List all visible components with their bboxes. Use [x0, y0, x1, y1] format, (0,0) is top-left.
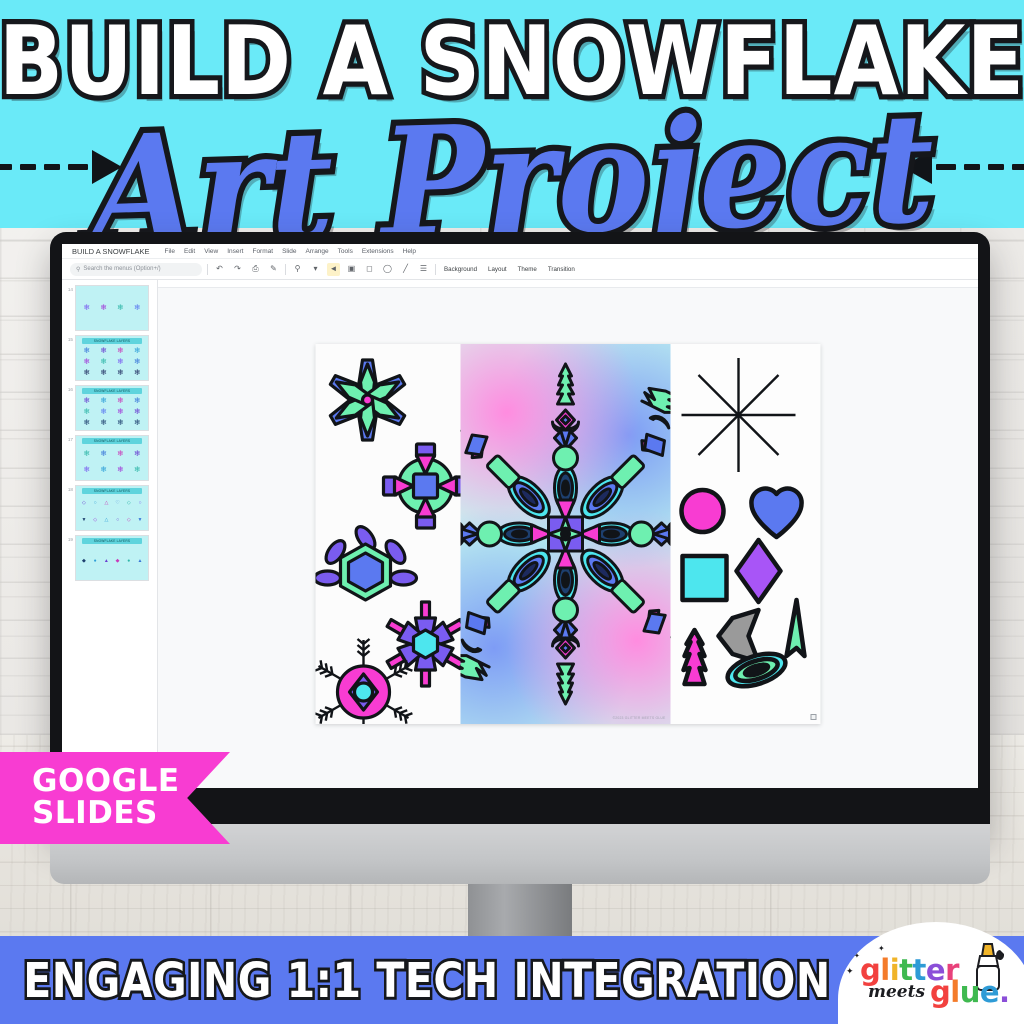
toolbar-divider: [285, 264, 286, 275]
circle-shape: [682, 490, 724, 532]
example-snowflake-2: [384, 444, 461, 528]
monitor-screen: BUILD A SNOWFLAKE File Edit View Insert …: [62, 244, 978, 788]
footer-tagline: ENGAGING 1:1 TECH INTEGRATION: [8, 952, 846, 1009]
menu-item-slide[interactable]: Slide: [282, 248, 296, 255]
toolbar-divider: [207, 264, 208, 275]
menu-bar: BUILD A SNOWFLAKE File Edit View Insert …: [62, 244, 978, 259]
main-snowflake-artwork[interactable]: ©2023 GLITTER MEETS GLUE: [461, 344, 671, 724]
example-snowflake-1: [328, 360, 406, 440]
redo-icon[interactable]: ↷: [231, 263, 244, 276]
slide-thumbnail[interactable]: ❄ ❄ ❄ ❄: [75, 285, 149, 331]
thumbnail-title-bar: SNOWFLAKE LAYERS: [82, 388, 142, 394]
thumbnail-title-bar: SNOWFLAKE LAYERS: [82, 338, 142, 344]
search-placeholder: Search the menus (Option+/): [83, 266, 160, 272]
app-body: 14 ❄ ❄ ❄ ❄: [62, 280, 978, 788]
chevron-shape: [719, 610, 759, 662]
slide-thumbnail[interactable]: SNOWFLAKE LAYERS ◇○ △♡ ◇○ ▼◇ △○ ◇▼: [75, 485, 149, 531]
thumbnail-title-bar: SNOWFLAKE LAYERS: [82, 488, 142, 494]
print-icon[interactable]: ⎙: [249, 263, 262, 276]
list-item[interactable]: 15 SNOWFLAKE LAYERS ❄❄ ❄❄ ❄❄ ❄❄: [62, 333, 157, 383]
slide-number: 19: [65, 535, 73, 542]
google-slides-app: BUILD A SNOWFLAKE File Edit View Insert …: [62, 244, 978, 788]
sparkle-icon: ✦: [878, 944, 885, 953]
slide-thumbnail[interactable]: SNOWFLAKE LAYERS ❄❄ ❄❄ ❄❄ ❄❄ ❄❄ ❄❄: [75, 335, 149, 381]
list-item[interactable]: 16 SNOWFLAKE LAYERS ❄❄ ❄❄ ❄❄ ❄❄: [62, 383, 157, 433]
thumbnail-title: SNOWFLAKE LAYERS: [82, 488, 142, 494]
eight-spoke-guide-icon: [682, 358, 796, 472]
list-item[interactable]: 19 SNOWFLAKE LAYERS ◆● ▲◆ ●▲: [62, 533, 157, 583]
slide-number: 16: [65, 385, 73, 392]
slide-filmstrip[interactable]: 14 ❄ ❄ ❄ ❄: [62, 280, 158, 788]
menu-item-tools[interactable]: Tools: [338, 248, 353, 255]
selection-handle[interactable]: [811, 714, 817, 720]
menu-item-help[interactable]: Help: [403, 248, 416, 255]
menu-item-edit[interactable]: Edit: [184, 248, 195, 255]
search-icon: ⚲: [76, 266, 80, 273]
toolbar: ⚲ Search the menus (Option+/) ↶ ↷ ⎙ ✎ ⚲ …: [62, 259, 978, 280]
menu-item-insert[interactable]: Insert: [227, 248, 243, 255]
thumbnail-title: SNOWFLAKE LAYERS: [82, 538, 142, 544]
thumbnail-title-bar: SNOWFLAKE LAYERS: [82, 438, 142, 444]
slide-thumbnail[interactable]: SNOWFLAKE LAYERS ❄❄ ❄❄ ❄❄ ❄❄ ❄❄ ❄❄: [75, 385, 149, 431]
theme-button[interactable]: Theme: [515, 266, 540, 273]
slide-number: 17: [65, 435, 73, 442]
menu-item-extensions[interactable]: Extensions: [362, 248, 394, 255]
zoom-icon[interactable]: ⚲: [291, 263, 304, 276]
image-icon[interactable]: ◻: [363, 263, 376, 276]
background-button[interactable]: Background: [441, 266, 480, 273]
logo-word-meets: meets: [868, 984, 925, 1001]
sparkle-icon: ✦: [846, 966, 854, 977]
list-item[interactable]: 18 SNOWFLAKE LAYERS ◇○ △♡ ◇○ ▼◇: [62, 483, 157, 533]
monitor-mockup: BUILD A SNOWFLAKE File Edit View Insert …: [50, 232, 990, 832]
watermark: ©2023 GLITTER MEETS GLUE: [613, 716, 666, 720]
example-snowflake-5: [316, 639, 413, 724]
thumbnail-title: SNOWFLAKE LAYERS: [82, 388, 142, 394]
logo-word-glue: glue.: [930, 978, 1010, 1007]
select-icon[interactable]: ◄: [327, 263, 340, 276]
ruler: [158, 280, 978, 288]
layout-button[interactable]: Layout: [485, 266, 510, 273]
paint-format-icon[interactable]: ✎: [267, 263, 280, 276]
transition-button[interactable]: Transition: [545, 266, 578, 273]
document-title[interactable]: BUILD A SNOWFLAKE: [72, 247, 150, 256]
list-item[interactable]: 14 ❄ ❄ ❄ ❄: [62, 283, 157, 333]
slide-number: 15: [65, 335, 73, 342]
slide-thumbnail[interactable]: SNOWFLAKE LAYERS ❄❄ ❄❄ ❄❄ ❄❄: [75, 435, 149, 481]
search-input[interactable]: ⚲ Search the menus (Option+/): [70, 263, 202, 276]
thumbnail-title-bar: SNOWFLAKE LAYERS: [82, 538, 142, 544]
slide-canvas-area[interactable]: ©2023 GLITTER MEETS GLUE: [158, 280, 978, 788]
example-snowflakes: [316, 344, 461, 724]
menu-item-format[interactable]: Format: [252, 248, 273, 255]
feather-shape: [684, 630, 706, 684]
heart-shape: [751, 489, 801, 537]
square-shape: [683, 556, 727, 600]
menu-item-view[interactable]: View: [204, 248, 218, 255]
undo-icon[interactable]: ↶: [213, 263, 226, 276]
arrow-shape: [787, 600, 805, 656]
slide-number: 14: [65, 285, 73, 292]
example-snowflake-3: [316, 523, 417, 600]
comment-icon[interactable]: ☰: [417, 263, 430, 276]
brand-logo: ✦ ✦ ✦ glitter meets glue.: [842, 936, 1018, 1018]
textbox-icon[interactable]: ▣: [345, 263, 358, 276]
toolbar-divider: [435, 264, 436, 275]
list-item[interactable]: 17 SNOWFLAKE LAYERS ❄❄ ❄❄ ❄❄ ❄❄: [62, 433, 157, 483]
diamond-shape: [737, 540, 781, 602]
thumbnail-title: SNOWFLAKE LAYERS: [82, 438, 142, 444]
chevron-down-icon[interactable]: ▾: [309, 263, 322, 276]
line-icon[interactable]: ╱: [399, 263, 412, 276]
shape-palette-panel[interactable]: [671, 344, 821, 724]
sparkle-icon: ✦: [854, 952, 860, 960]
menu-item-file[interactable]: File: [165, 248, 175, 255]
menu-item-arrange[interactable]: Arrange: [306, 248, 329, 255]
slide-thumbnail[interactable]: SNOWFLAKE LAYERS ◆● ▲◆ ●▲: [75, 535, 149, 581]
thumbnail-title: SNOWFLAKE LAYERS: [82, 338, 142, 344]
slide-number: 18: [65, 485, 73, 492]
shape-icon[interactable]: ◯: [381, 263, 394, 276]
current-slide[interactable]: ©2023 GLITTER MEETS GLUE: [316, 344, 821, 724]
